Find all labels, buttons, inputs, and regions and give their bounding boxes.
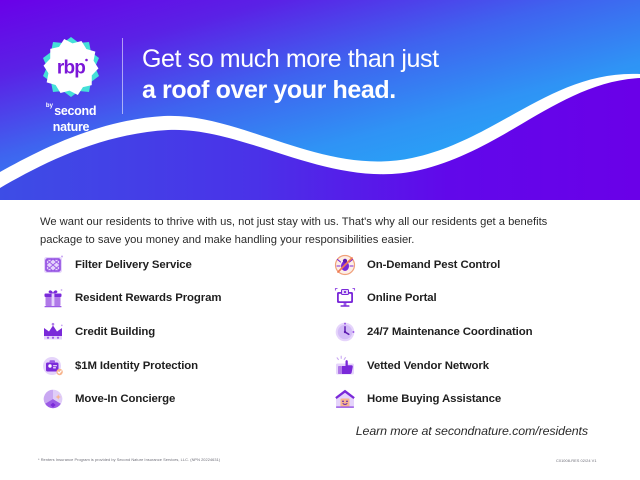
crown-icon: [40, 319, 66, 345]
benefit-item: 24/7 Maintenance Coordination: [332, 315, 600, 349]
flyer-page: rbp bysecond nature Get so much more tha…: [0, 0, 640, 480]
intro-paragraph: We want our residents to thrive with us,…: [40, 214, 592, 249]
id-badge-icon: [40, 353, 66, 379]
benefit-label: 24/7 Maintenance Coordination: [367, 326, 532, 338]
clock-icon: [332, 319, 358, 345]
benefit-label: $1M Identity Protection: [75, 360, 198, 372]
benefit-label: Vetted Vendor Network: [367, 360, 489, 372]
rbp-logo-mark: rbp: [40, 36, 102, 98]
air-filter-icon: [40, 252, 66, 278]
rbp-wordmark: rbp: [57, 58, 85, 79]
benefit-item: Credit Building: [40, 315, 332, 349]
rbp-trademark-dot: [85, 59, 88, 62]
benefit-label: Home Buying Assistance: [367, 393, 501, 405]
benefit-item: Vetted Vendor Network: [332, 349, 600, 383]
no-pest-icon: [332, 252, 358, 278]
logo-by-text: by: [46, 103, 53, 109]
benefit-item: $1M Identity Protection: [40, 349, 332, 383]
house-icon: [332, 386, 358, 412]
monitor-icon: [332, 285, 358, 311]
logo-subtitle: bysecond nature: [46, 103, 96, 136]
footer-disclaimer: * Renters Insurance Program is provided …: [38, 457, 220, 462]
benefit-label: Credit Building: [75, 326, 155, 338]
benefit-item: On-Demand Pest Control: [332, 248, 600, 282]
headline-line-2: a roof over your head.: [142, 75, 439, 106]
hero-headline: Get so much more than just a roof over y…: [142, 44, 439, 105]
benefit-label: On-Demand Pest Control: [367, 259, 500, 271]
hero-content: rbp bysecond nature Get so much more tha…: [0, 0, 640, 190]
benefit-label: Online Portal: [367, 292, 437, 304]
benefit-label: Filter Delivery Service: [75, 259, 192, 271]
logo-name-line2: nature: [53, 120, 89, 134]
benefit-label: Resident Rewards Program: [75, 292, 221, 304]
benefit-item: Resident Rewards Program: [40, 282, 332, 316]
benefit-label: Move-In Concierge: [75, 393, 175, 405]
footer-doc-code: C01008-RES 02/24 V1: [556, 458, 597, 463]
benefit-item: Online Portal: [332, 282, 600, 316]
logo-name-line1: second: [54, 104, 96, 118]
rbp-logo: rbp bysecond nature: [34, 36, 108, 136]
benefit-item: Home Buying Assistance: [332, 382, 600, 416]
concierge-circle-icon: [40, 386, 66, 412]
benefits-grid: Filter Delivery Service On-Demand Pest C…: [40, 248, 600, 416]
headline-line-1: Get so much more than just: [142, 44, 439, 75]
learn-more-text[interactable]: Learn more at secondnature.com/residents: [356, 424, 588, 438]
logo-divider: [122, 38, 123, 114]
benefit-item: Move-In Concierge: [40, 382, 332, 416]
thumbs-up-icon: [332, 353, 358, 379]
benefit-item: Filter Delivery Service: [40, 248, 332, 282]
gift-box-icon: [40, 285, 66, 311]
hero-banner: rbp bysecond nature Get so much more tha…: [0, 0, 640, 200]
